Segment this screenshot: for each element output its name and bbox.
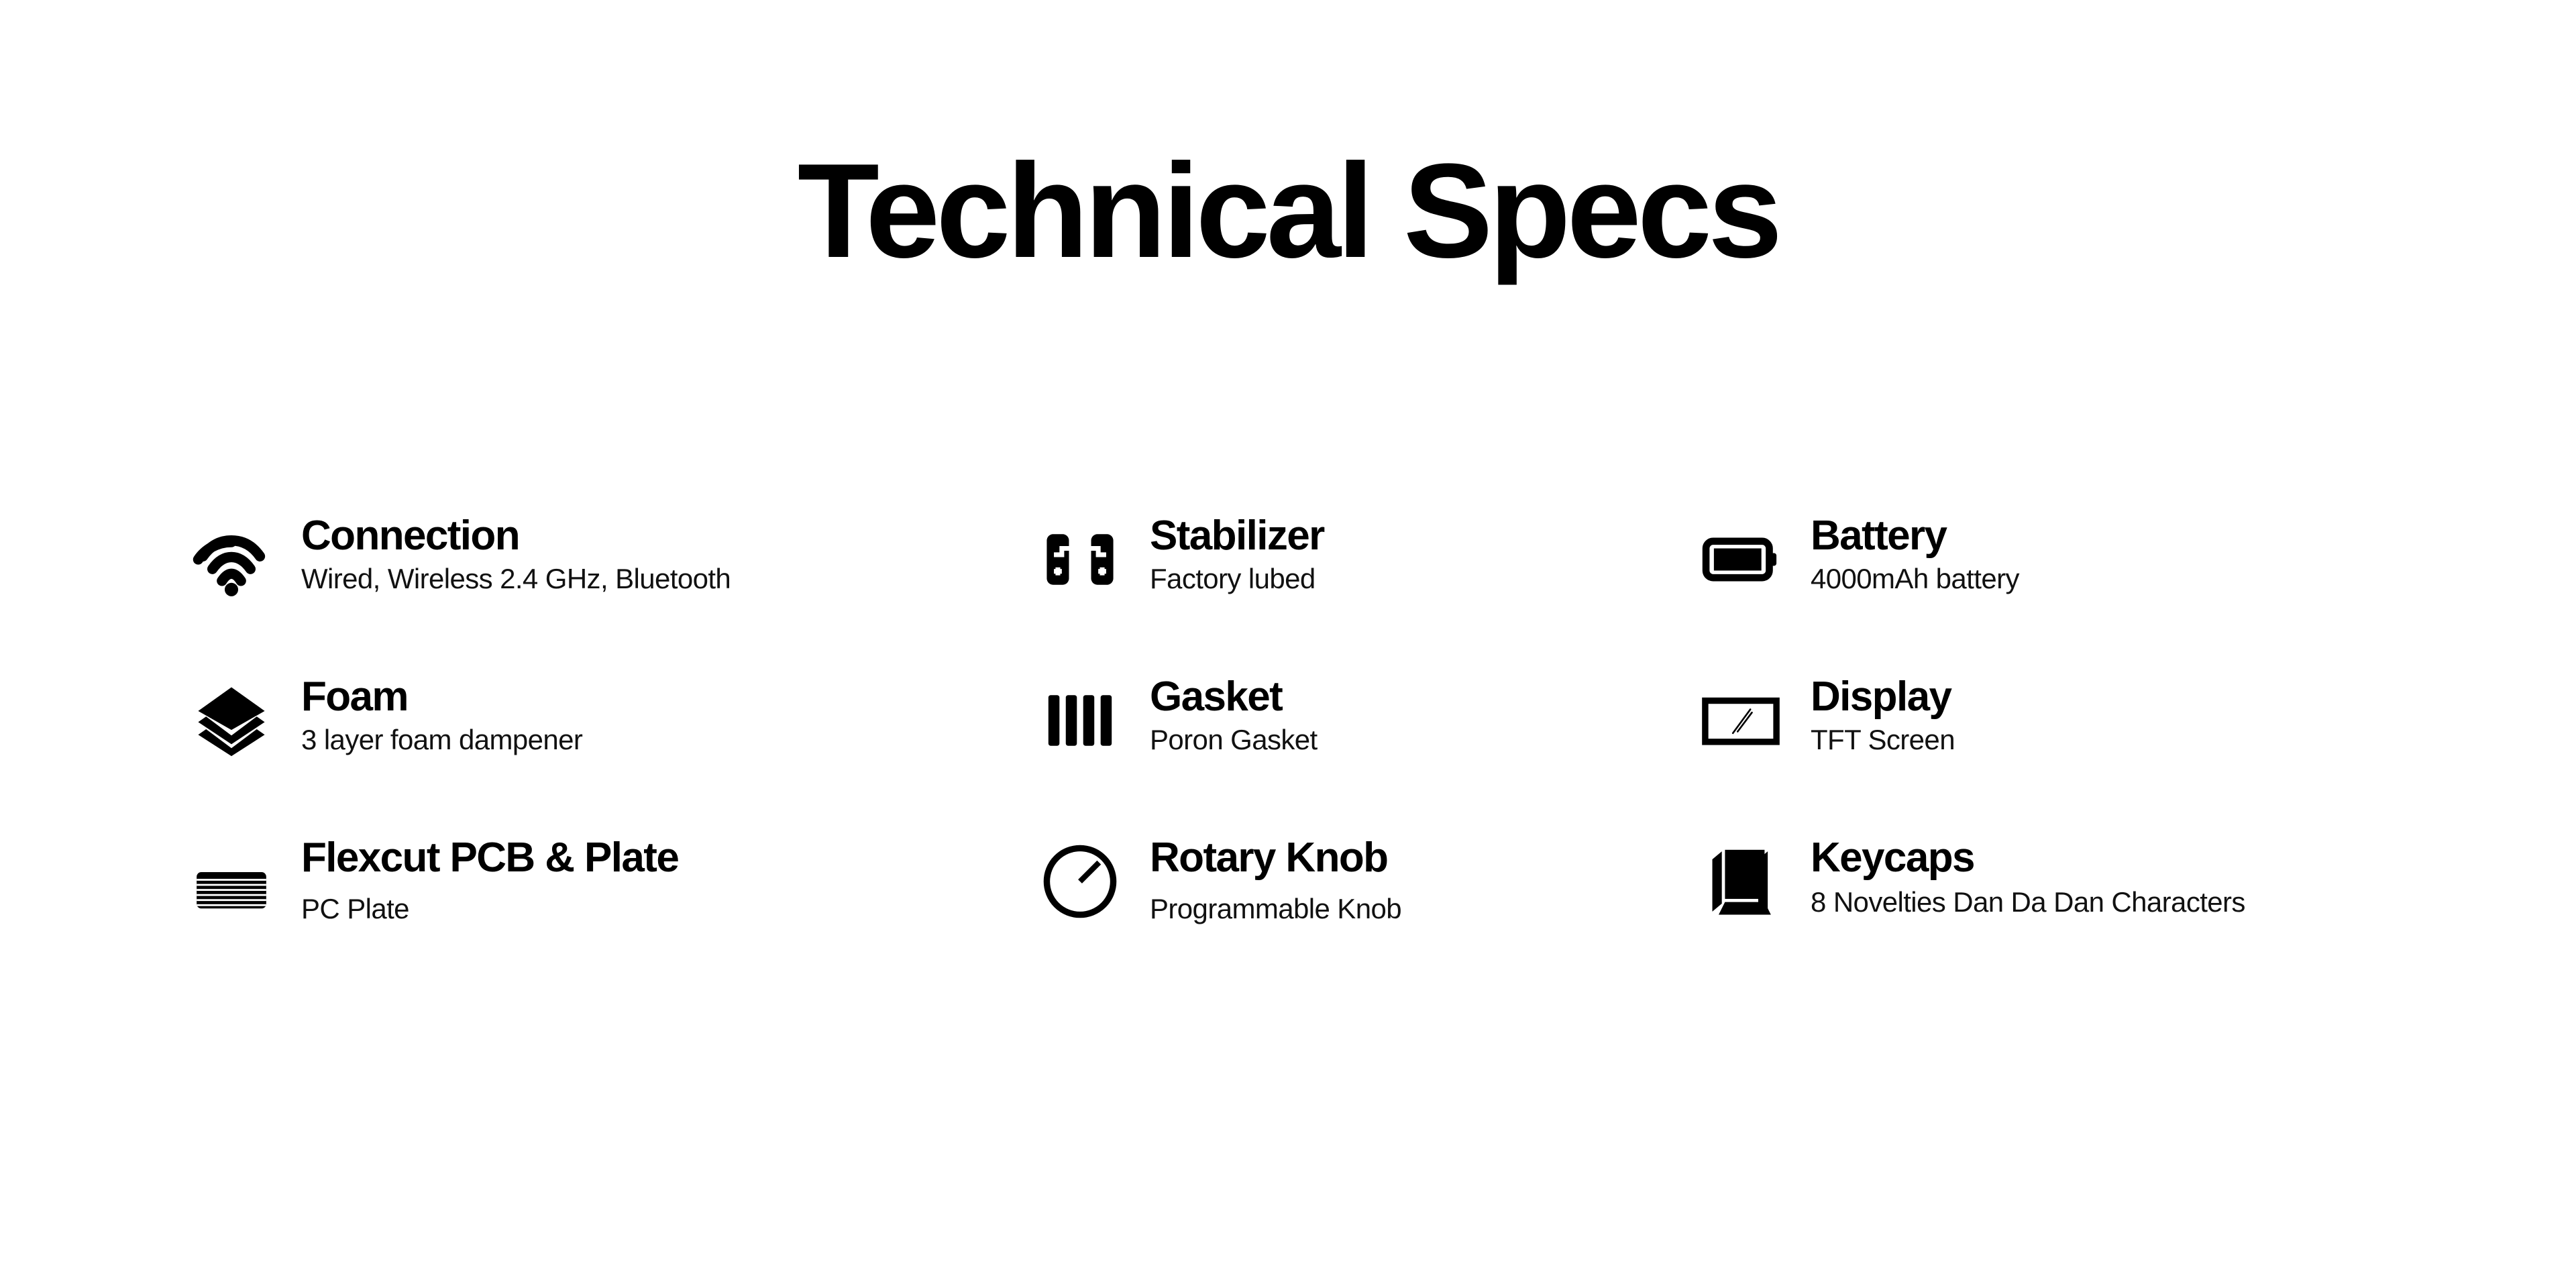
spec-title: Battery <box>1811 513 1946 559</box>
spec-subtitle: TFT Screen <box>1811 724 1955 756</box>
spec-title: Connection <box>301 513 519 559</box>
stabilizer-icon <box>1040 519 1120 600</box>
spec-item-battery: Battery 4000mAh battery <box>1701 510 2566 671</box>
spec-subtitle: Wired, Wireless 2.4 GHz, Bluetooth <box>301 563 731 595</box>
spec-title: Foam <box>301 674 408 720</box>
spec-title: Stabilizer <box>1150 513 1324 559</box>
pcb-plate-icon <box>191 849 272 930</box>
spec-item-keycaps: Keycaps 8 Novelties Dan Da Dan Character… <box>1701 832 2566 993</box>
spec-item-flexcut-pcb-plate: Flexcut PCB & Plate PC Plate <box>191 832 1040 993</box>
spec-text: Keycaps 8 Novelties Dan Da Dan Character… <box>1811 832 2245 918</box>
spec-subtitle: 3 layer foam dampener <box>301 724 582 756</box>
spec-item-connection: Connection Wired, Wireless 2.4 GHz, Blue… <box>191 510 1040 671</box>
technical-specs-slide: Technical Specs Connection Wired, Wirele… <box>0 0 2576 1288</box>
display-screen-icon <box>1701 680 1781 761</box>
spec-title: Display <box>1811 674 1951 720</box>
spec-title: Gasket <box>1150 674 1282 720</box>
page-title: Technical Specs <box>0 144 2576 278</box>
spec-subtitle: Programmable Knob <box>1150 893 1401 925</box>
spec-title: Flexcut PCB & Plate <box>301 835 678 881</box>
gasket-bars-icon <box>1040 680 1120 761</box>
spec-item-rotary-knob: Rotary Knob Programmable Knob <box>1040 832 1701 993</box>
spec-item-foam: Foam 3 layer foam dampener <box>191 671 1040 832</box>
keycap-icon <box>1701 841 1781 922</box>
rotary-knob-icon <box>1040 841 1120 922</box>
spec-subtitle: Poron Gasket <box>1150 724 1318 756</box>
spec-subtitle: Factory lubed <box>1150 563 1324 595</box>
spec-text: Battery 4000mAh battery <box>1811 510 2019 595</box>
spec-title: Keycaps <box>1811 835 1974 881</box>
spec-text: Connection Wired, Wireless 2.4 GHz, Blue… <box>301 510 731 595</box>
spec-item-stabilizer: Stabilizer Factory lubed <box>1040 510 1701 671</box>
spec-subtitle: 4000mAh battery <box>1811 563 2019 595</box>
spec-text: Display TFT Screen <box>1811 671 1955 756</box>
spec-text: Gasket Poron Gasket <box>1150 671 1318 756</box>
spec-grid: Connection Wired, Wireless 2.4 GHz, Blue… <box>0 510 2576 993</box>
spec-subtitle: 8 Novelties Dan Da Dan Characters <box>1811 886 2245 918</box>
layers-icon <box>191 680 272 761</box>
spec-text: Rotary Knob Programmable Knob <box>1150 832 1401 925</box>
spec-text: Flexcut PCB & Plate PC Plate <box>301 832 678 925</box>
spec-subtitle: PC Plate <box>301 893 678 925</box>
spec-text: Stabilizer Factory lubed <box>1150 510 1324 595</box>
spec-title: Rotary Knob <box>1150 835 1387 881</box>
wifi-icon <box>191 519 272 600</box>
battery-icon <box>1701 519 1781 600</box>
spec-text: Foam 3 layer foam dampener <box>301 671 582 756</box>
spec-item-gasket: Gasket Poron Gasket <box>1040 671 1701 832</box>
spec-item-display: Display TFT Screen <box>1701 671 2566 832</box>
